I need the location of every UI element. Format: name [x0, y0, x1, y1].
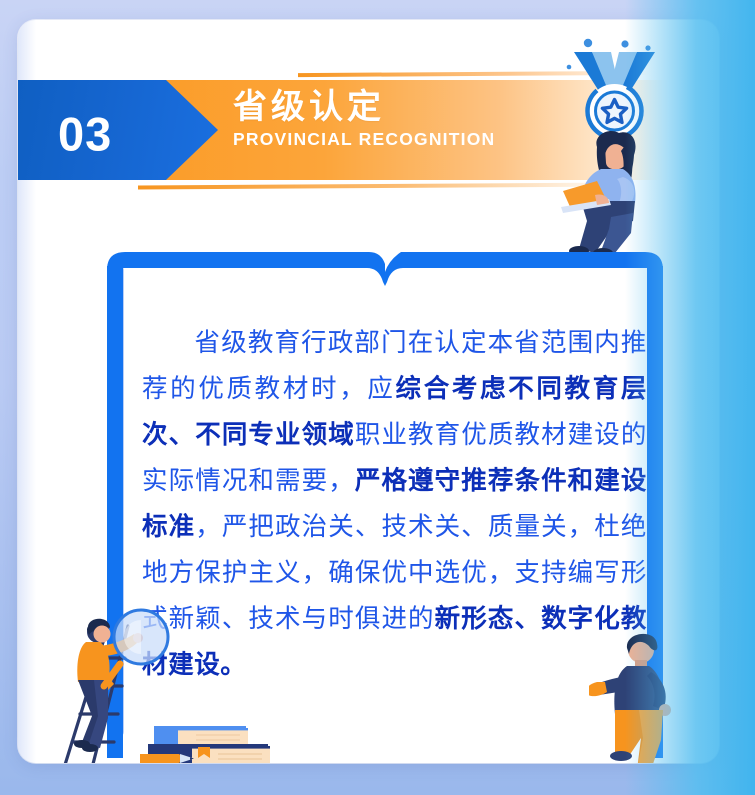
- section-title-chinese: 省级认定: [233, 88, 495, 126]
- section-title-english: PROVINCIAL RECOGNITION: [233, 129, 495, 150]
- magnifying-glass-icon: [110, 606, 172, 668]
- section-number: 03: [58, 107, 112, 162]
- content-card: 03 省级认定 PROVINCIAL RECOGNITION: [18, 20, 719, 763]
- body-paragraph: 省级教育行政部门在认定本省范围内推荐的优质教材时，应综合考虑不同教育层次、不同专…: [142, 320, 647, 688]
- header-bottom-accent-line: [138, 183, 624, 189]
- stacked-books-illustration: [140, 714, 320, 763]
- man-pointing-illustration: [589, 624, 699, 763]
- header-title-group: 省级认定 PROVINCIAL RECOGNITION: [233, 88, 495, 150]
- page-background: 03 省级认定 PROVINCIAL RECOGNITION: [0, 0, 755, 795]
